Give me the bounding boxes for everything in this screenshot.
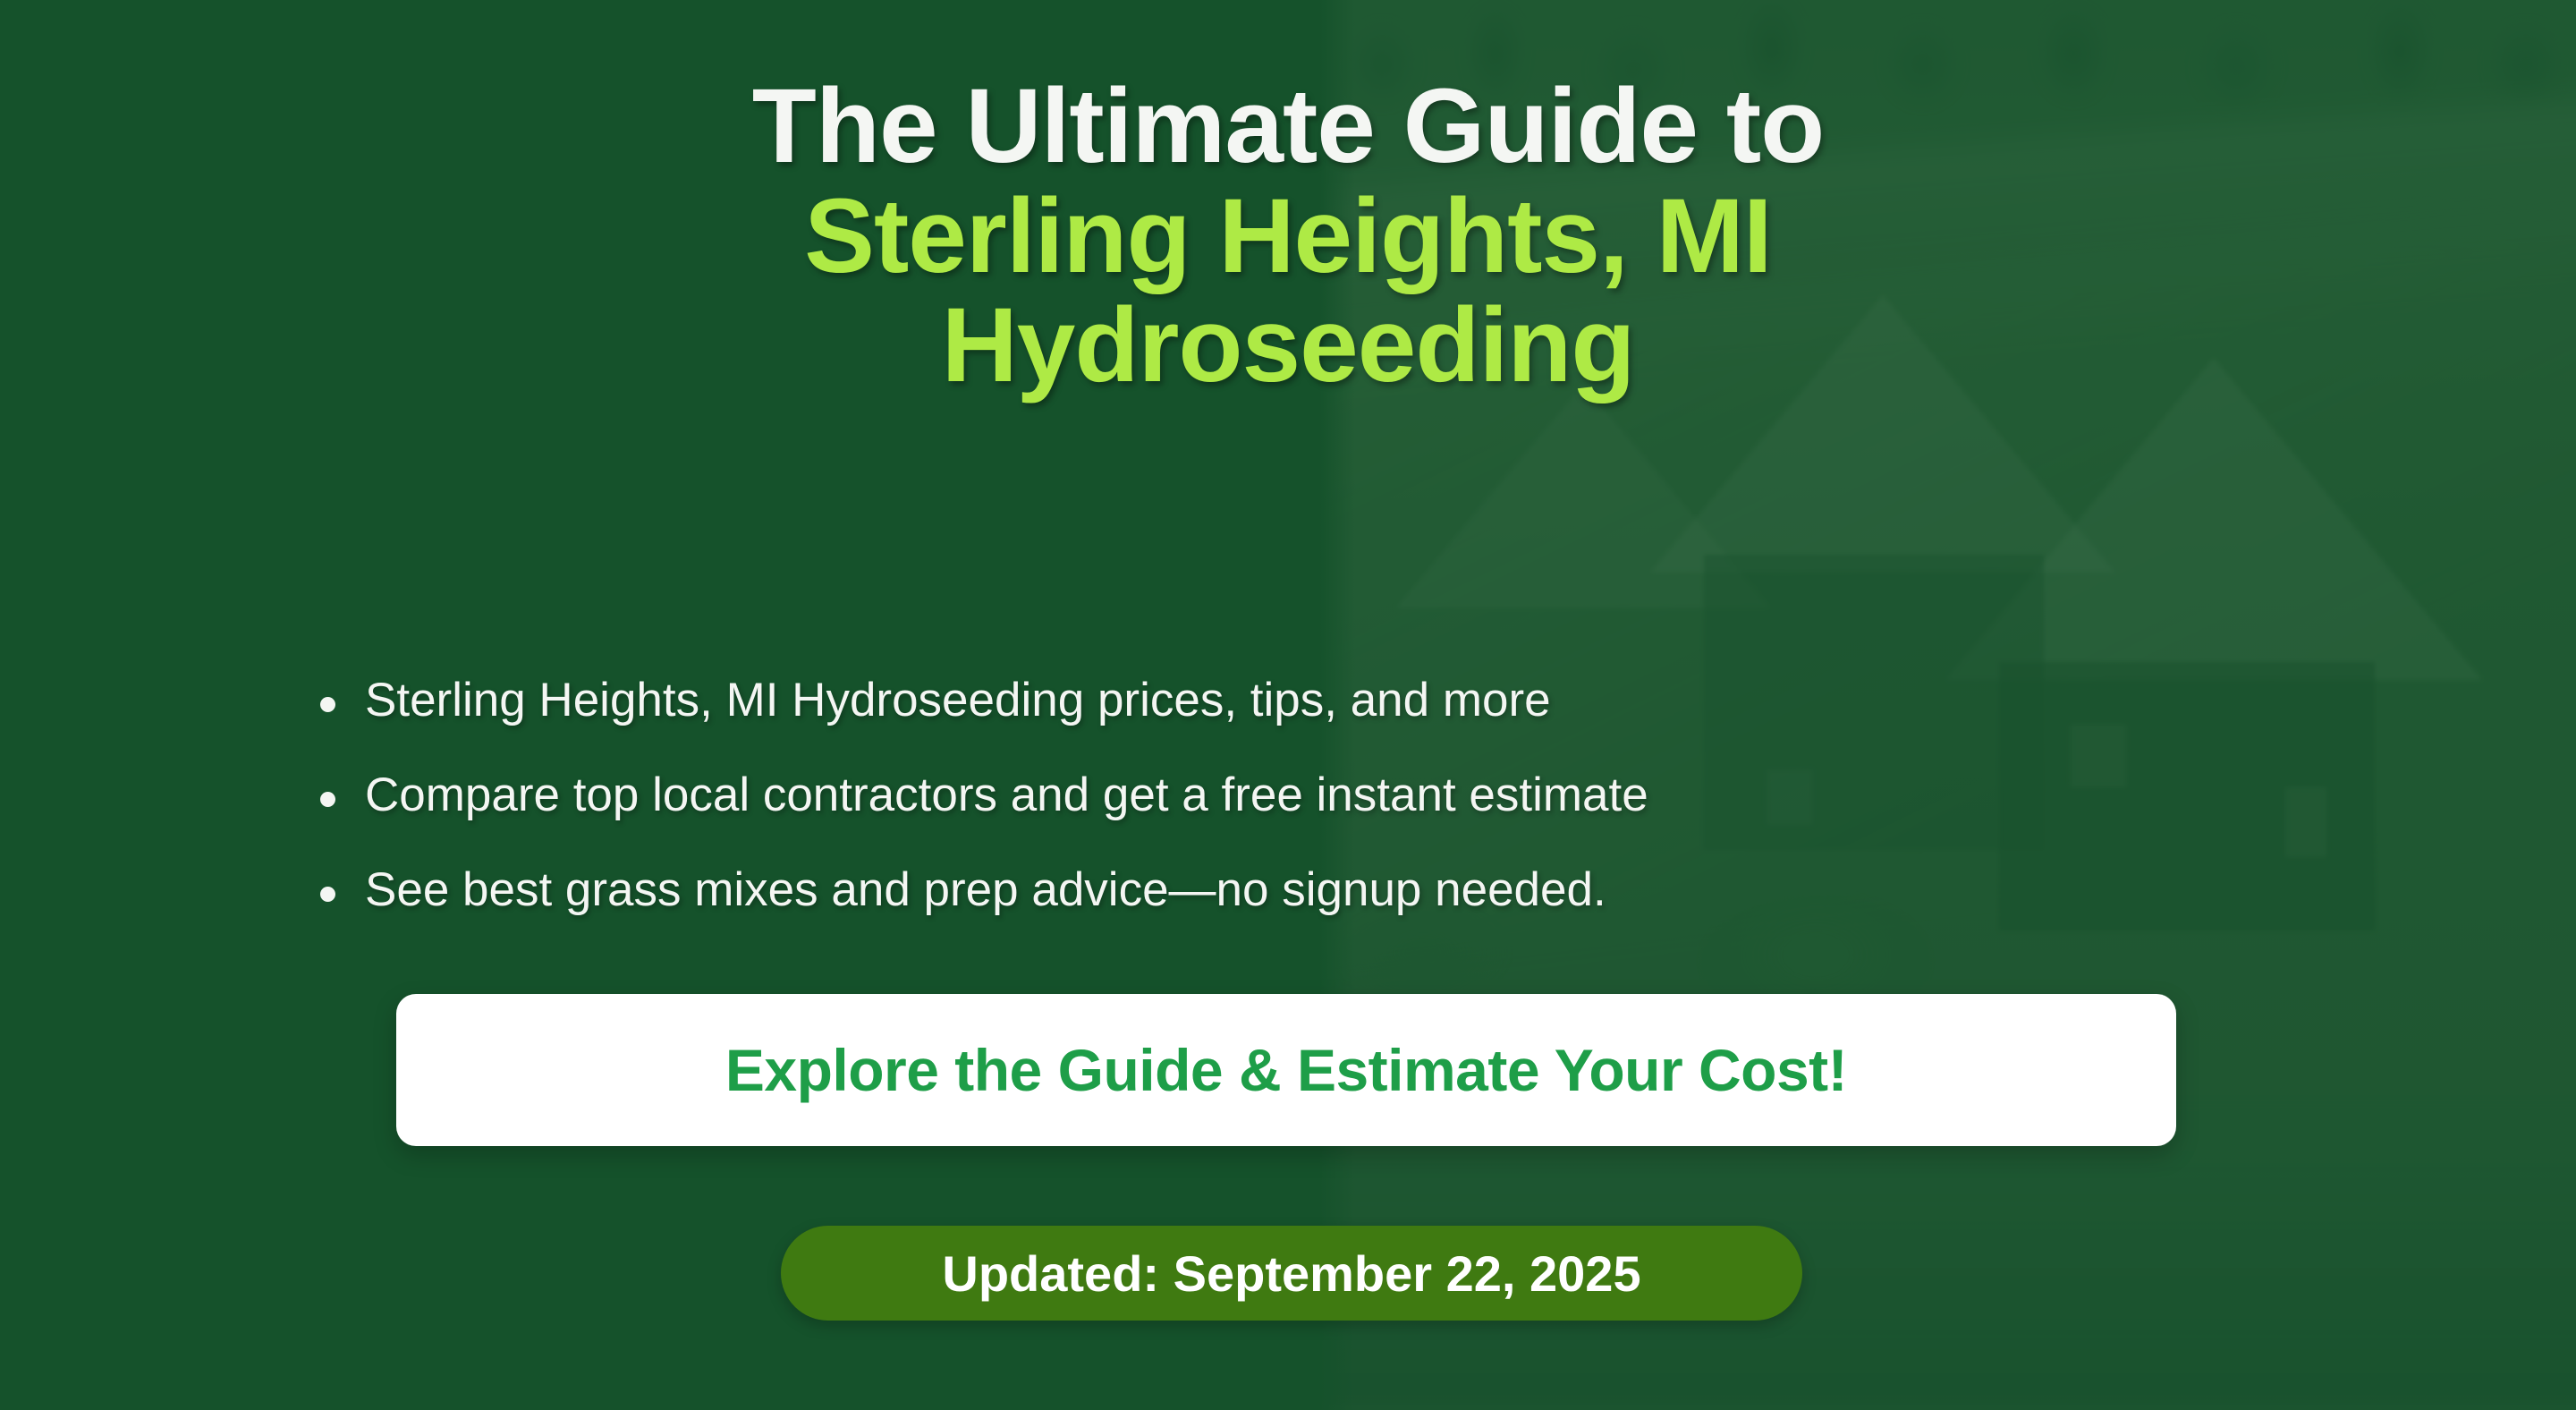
updated-date-badge: Updated: September 22, 2025 (781, 1226, 1802, 1321)
list-item: Compare top local contractors and get a … (304, 770, 1648, 820)
list-item: Sterling Heights, MI Hydroseeding prices… (304, 675, 1648, 726)
title-line-3: Hydroseeding (942, 286, 1635, 404)
title-line-2: Sterling Heights, MI (804, 177, 1771, 295)
title-line-1: The Ultimate Guide to (752, 67, 1824, 185)
cta-label: Explore the Guide & Estimate Your Cost! (725, 1036, 1847, 1104)
explore-guide-cta-button[interactable]: Explore the Guide & Estimate Your Cost! (396, 994, 2176, 1146)
hero-banner: The Ultimate Guide to Sterling Heights, … (0, 0, 2576, 1410)
benefits-list: Sterling Heights, MI Hydroseeding prices… (304, 675, 1648, 961)
hero-content: The Ultimate Guide to Sterling Heights, … (0, 0, 2576, 1410)
updated-date-label: Updated: September 22, 2025 (942, 1244, 1640, 1303)
list-item: See best grass mixes and prep advice—no … (304, 865, 1648, 915)
page-title: The Ultimate Guide to Sterling Heights, … (0, 72, 2576, 401)
